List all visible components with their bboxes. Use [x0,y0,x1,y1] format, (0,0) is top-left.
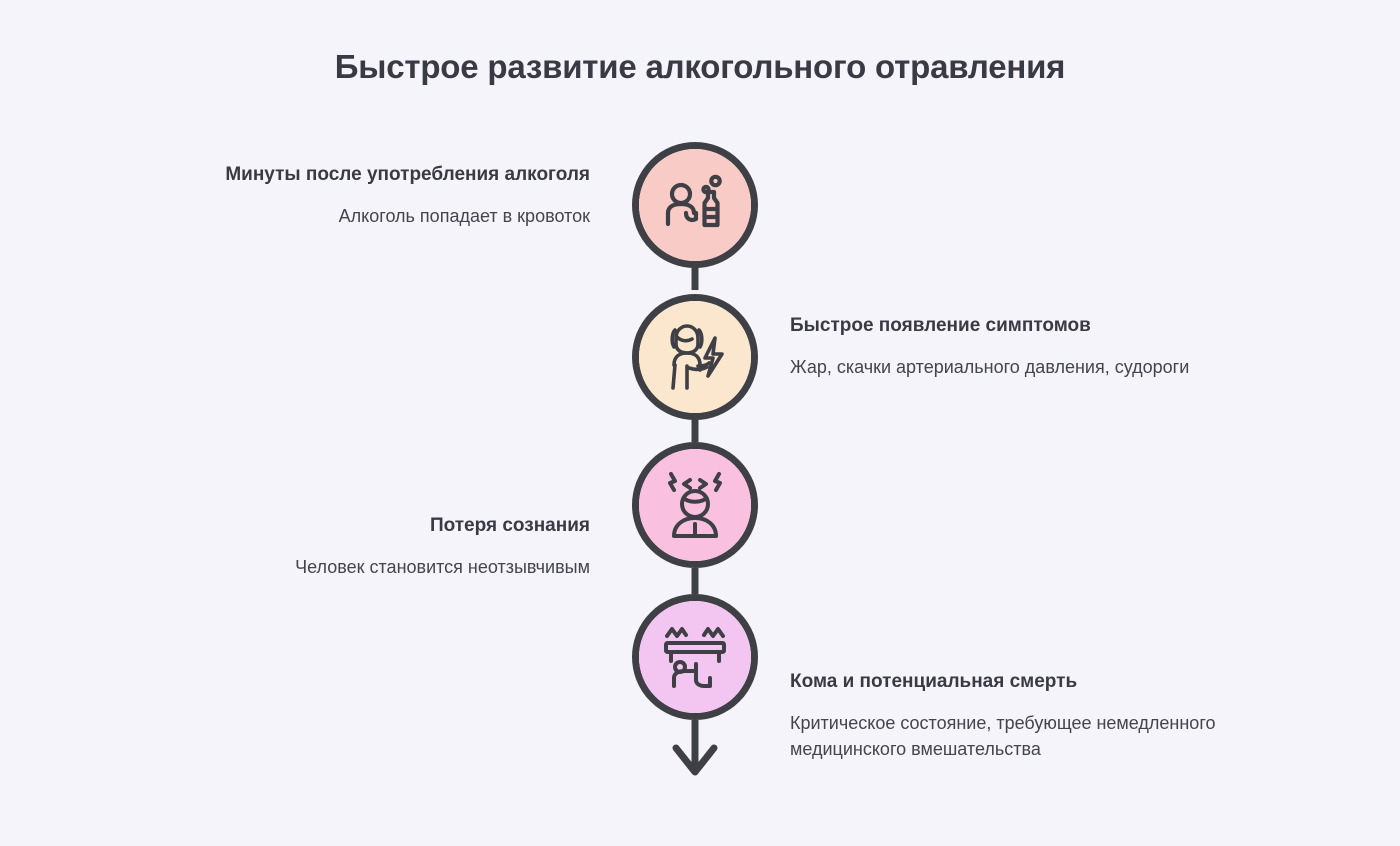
arrow-down-icon [676,720,714,772]
timeline-connector-spine [0,0,1400,846]
